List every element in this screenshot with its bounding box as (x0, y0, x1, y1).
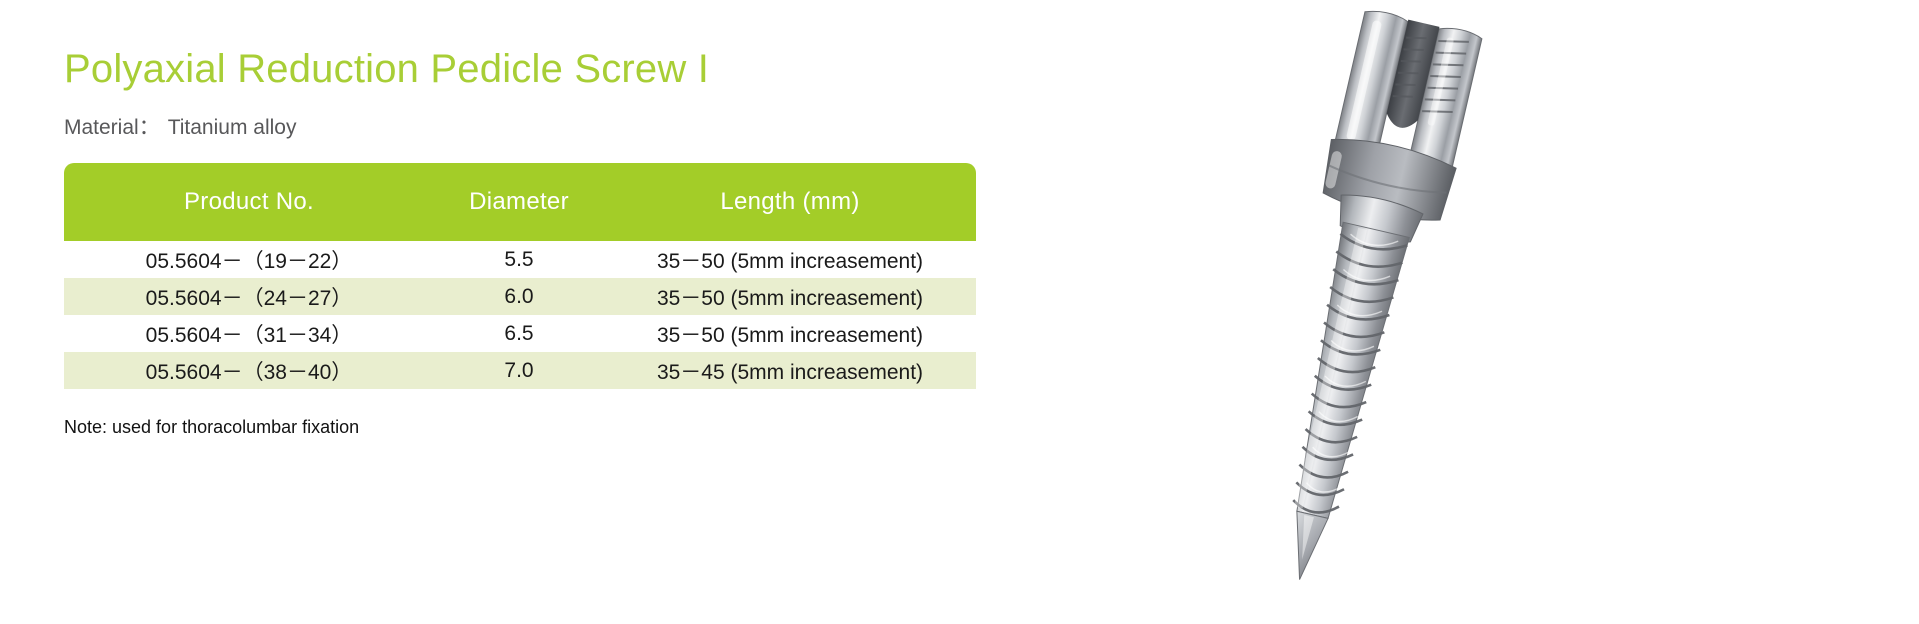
table-body: 05.5604－（19－22） 5.5 35－50 (5mm increasem… (64, 241, 976, 389)
material-value: Titanium alloy (168, 116, 297, 139)
table-header-row: Product No. Diameter Length (mm) (64, 163, 976, 241)
cell-diameter: 6.5 (434, 315, 604, 352)
cell-length: 35－50 (5mm increasement) (604, 241, 976, 278)
specification-table: Product No. Diameter Length (mm) 05.5604… (64, 163, 976, 389)
table-row: 05.5604－（24－27） 6.0 35－50 (5mm increasem… (64, 278, 976, 315)
table-header: Product No. Diameter Length (mm) (64, 163, 976, 241)
page-title: Polyaxial Reduction Pedicle Screw I (64, 46, 1024, 93)
cell-product-no: 05.5604－（38－40） (64, 352, 434, 389)
cell-diameter: 6.0 (434, 278, 604, 315)
column-header-length: Length (mm) (604, 163, 976, 241)
cell-product-no: 05.5604－（19－22） (64, 241, 434, 278)
table-row: 05.5604－（19－22） 5.5 35－50 (5mm increasem… (64, 241, 976, 278)
column-header-diameter: Diameter (434, 163, 604, 241)
pedicle-screw-illustration (1150, 0, 1570, 624)
screw-shank (1277, 222, 1409, 522)
spec-panel: Polyaxial Reduction Pedicle Screw I Mate… (64, 46, 1024, 456)
cell-product-no: 05.5604－（24－27） (64, 278, 434, 315)
product-spec-page: Polyaxial Reduction Pedicle Screw I Mate… (0, 0, 1919, 624)
material-colon: ： (139, 116, 162, 139)
cell-diameter: 5.5 (434, 241, 604, 278)
note-text: Note: used for thoracolumbar fixation (64, 417, 1024, 438)
cell-product-no: 05.5604－（31－34） (64, 315, 434, 352)
screw-tip (1282, 511, 1328, 583)
column-header-product-no: Product No. (64, 163, 434, 241)
cell-length: 35－45 (5mm increasement) (604, 352, 976, 389)
cell-diameter: 7.0 (434, 352, 604, 389)
cell-length: 35－50 (5mm increasement) (604, 315, 976, 352)
cell-length: 35－50 (5mm increasement) (604, 278, 976, 315)
material-label: Material (64, 116, 139, 139)
product-image (1150, 0, 1570, 624)
table-row: 05.5604－（38－40） 7.0 35－45 (5mm increasem… (64, 352, 976, 389)
table-row: 05.5604－（31－34） 6.5 35－50 (5mm increasem… (64, 315, 976, 352)
material-line: Material：Titanium alloy (64, 111, 1024, 141)
